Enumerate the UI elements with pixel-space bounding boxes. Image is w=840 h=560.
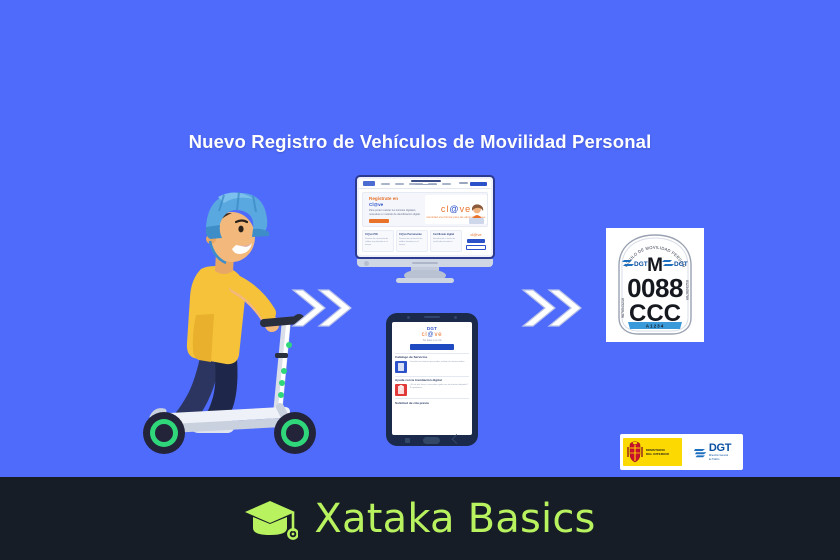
- ministry-line2: DEL INTERIOR: [646, 452, 669, 456]
- clave-logo: cl@ve: [441, 205, 471, 214]
- ministry-logo: MINISTERIO DEL INTERIOR: [623, 438, 682, 466]
- brand-name: Xataka Basics: [314, 496, 595, 542]
- app-section-ayuda[interactable]: Ayuda con la tramitación digital ¿No sé …: [395, 376, 469, 396]
- dgt-mark-icon: [694, 446, 707, 459]
- graduation-cap-icon: [244, 497, 298, 541]
- dgt-logo: DGT Dirección General de Tráfico: [685, 443, 740, 461]
- side-access-button[interactable]: [467, 239, 485, 243]
- dgt-name: DGT: [709, 443, 731, 454]
- site-subtitle-bar: [415, 184, 437, 186]
- nav-item[interactable]: [442, 183, 451, 185]
- site-login-button[interactable]: [470, 182, 487, 187]
- nav-item[interactable]: [395, 183, 404, 185]
- monitor-screen: Regístrate en Cl@ve Para poder realizar …: [359, 179, 491, 255]
- dgt-text: DGT Dirección General de Tráfico: [709, 443, 731, 461]
- hero-text: Para poder realizar tus trámites digital…: [369, 209, 425, 217]
- slide-canvas: Nuevo Registro de Vehículos de Movilidad…: [0, 0, 840, 560]
- app-section-cita-previa[interactable]: Solicitud de cita previa: [395, 398, 469, 405]
- card-text: Sistema de contraseña de validez muy lim…: [365, 238, 391, 247]
- site-hero: Regístrate en Cl@ve Para poder realizar …: [362, 192, 488, 227]
- page-title: Nuevo Registro de Vehículos de Movilidad…: [0, 131, 840, 153]
- section-title: Ayuda con la tramitación digital: [395, 378, 469, 382]
- mobile-phone: DGT cl@ve Tus datos a un clic Catálogo d…: [386, 313, 478, 446]
- app-clave-logo: cl@ve: [395, 332, 469, 339]
- plate-side-code-right: 0123456789: [685, 280, 689, 300]
- back-icon[interactable]: [451, 434, 461, 444]
- spain-coat-of-arms-icon: [626, 441, 644, 463]
- vmp-license-plate: VEHÍCULO DE MOVILIDAD PERSONAL DGT DGT 9…: [606, 228, 704, 342]
- recents-icon[interactable]: [405, 438, 410, 443]
- flow-arrow-1: [289, 284, 355, 332]
- phone-screen: DGT cl@ve Tus datos a un clic Catálogo d…: [392, 322, 472, 435]
- site-header: [359, 179, 491, 189]
- section-text: Consulta los trámites que puedes realiza…: [410, 361, 465, 364]
- hero-right: cl@ve identidad electrónica para las adm…: [425, 195, 487, 224]
- phone-sensor-icon: [454, 316, 457, 319]
- plate-numbers: 0088: [627, 273, 683, 303]
- app-section-catalogo[interactable]: Catálogo de Servicios Consulta los trámi…: [395, 353, 469, 373]
- card-title: Certificado digital: [433, 233, 459, 236]
- card-text: Identificación a través de certificado e…: [433, 238, 459, 244]
- svg-text:DGT: DGT: [634, 261, 648, 268]
- ministry-text: MINISTERIO DEL INTERIOR: [646, 448, 669, 456]
- site-card[interactable]: Cl@ve PIN Sistema de contraseña de valid…: [362, 230, 394, 252]
- nav-item[interactable]: [381, 183, 390, 185]
- phone-frame: DGT cl@ve Tus datos a un clic Catálogo d…: [386, 313, 478, 446]
- app-brand: DGT: [395, 325, 469, 331]
- site-card[interactable]: Cl@ve Permanente Sistema de contraseña d…: [396, 230, 428, 252]
- app-subtitle: Tus datos a un clic: [395, 340, 469, 342]
- home-button[interactable]: [423, 437, 440, 444]
- institutional-logos: MINISTERIO DEL INTERIOR DGT Dirección Ge…: [620, 434, 743, 470]
- monitor-chin: [357, 259, 493, 267]
- hero-left: Regístrate en Cl@ve Para poder realizar …: [363, 196, 425, 223]
- section-text: ¿No sé qué hacer o necesitas ayuda con l…: [410, 384, 470, 390]
- app-primary-button[interactable]: [410, 344, 454, 350]
- svg-text:DGT: DGT: [674, 261, 688, 268]
- site-title-bar: [411, 180, 441, 182]
- phone-nav-bar: [386, 437, 478, 444]
- side-register-button[interactable]: [466, 245, 486, 251]
- plate-side-code-left: 9876543210: [621, 298, 625, 318]
- section-row: ¿No sé qué hacer o necesitas ayuda con l…: [395, 384, 469, 396]
- dgt-sub-line2: de Tráfico: [709, 458, 731, 461]
- plate-footer-code: A1234: [646, 324, 665, 329]
- hero-cta-button[interactable]: [369, 219, 389, 223]
- monitor-bezel: Regístrate en Cl@ve Para poder realizar …: [355, 175, 495, 259]
- phone-earpiece: [386, 316, 478, 319]
- desktop-monitor: Regístrate en Cl@ve Para poder realizar …: [355, 175, 495, 283]
- section-title: Catálogo de Servicios: [395, 355, 469, 359]
- site-logo-icon: [363, 181, 375, 186]
- site-side-panel: cl@ve: [464, 230, 488, 252]
- card-title: Cl@ve PIN: [365, 233, 391, 236]
- brand-bar: Xataka Basics: [0, 477, 840, 560]
- flow-arrow-2: [519, 284, 585, 332]
- hero-title-line2: Cl@ve: [369, 202, 425, 208]
- hero-person-illustration: [468, 204, 485, 224]
- side-clave-logo: cl@ve: [470, 232, 481, 237]
- card-text: Sistema de contraseña de validez durader…: [399, 238, 425, 247]
- phone-camera-icon: [407, 316, 410, 319]
- phone-speaker: [424, 316, 440, 319]
- site-secondary-link[interactable]: [459, 182, 468, 184]
- document-icon: [395, 361, 407, 373]
- site-card[interactable]: Certificado digital Identificación a tra…: [430, 230, 462, 252]
- card-title: Cl@ve Permanente: [399, 233, 425, 236]
- site-cards: Cl@ve PIN Sistema de contraseña de valid…: [362, 230, 488, 252]
- help-icon: [395, 384, 407, 396]
- monitor-base: [396, 278, 454, 283]
- section-row: Consulta los trámites que puedes realiza…: [395, 361, 469, 373]
